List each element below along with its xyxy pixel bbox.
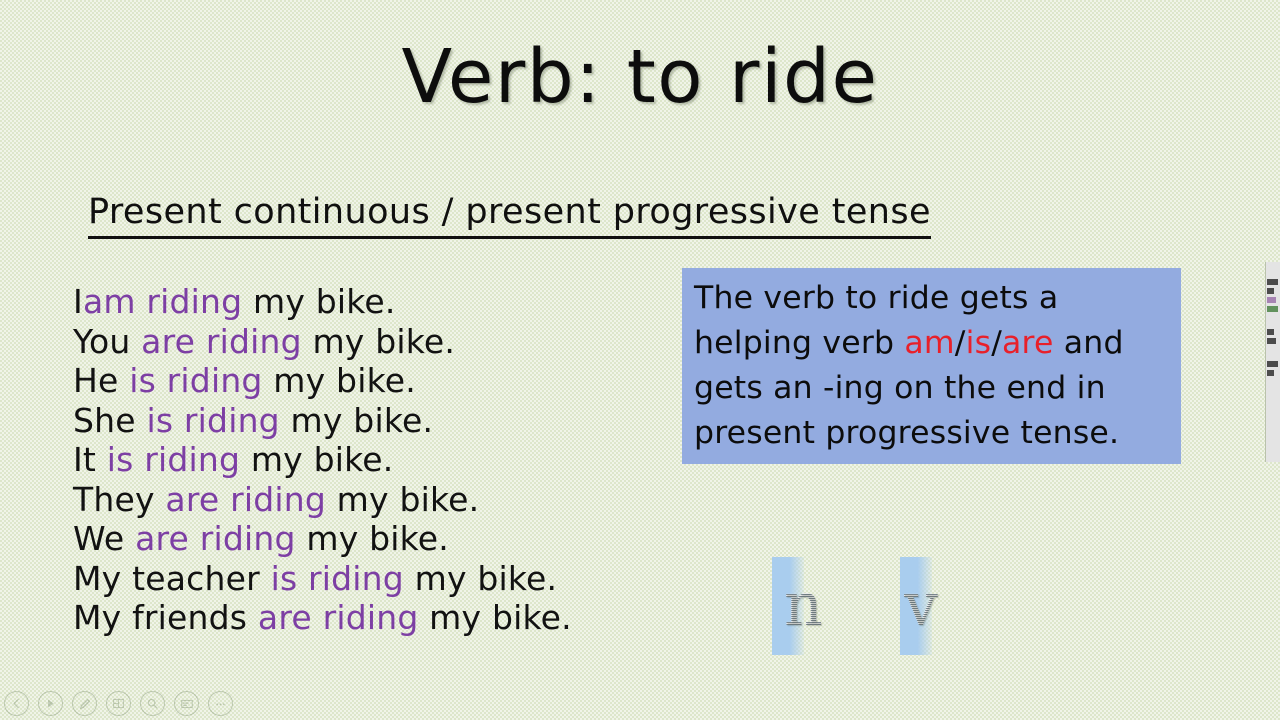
adjacent-slide-sliver[interactable]: [1265, 262, 1280, 462]
sliver-text-line: [1267, 306, 1278, 312]
sentence-subject: My friends: [73, 598, 258, 637]
list-item: He is riding my bike.: [73, 361, 673, 401]
sentence-subject: I: [73, 282, 83, 321]
slash-separator: /: [955, 325, 966, 361]
sentence-helping-verb: are riding: [141, 322, 302, 361]
sliver-text-line: [1267, 329, 1274, 335]
list-item: We are riding my bike.: [73, 519, 673, 559]
callout-line: present progressive tense.: [694, 411, 1169, 456]
more-icon[interactable]: [208, 691, 233, 716]
callout-line: gets an -ing on the end in: [694, 366, 1169, 411]
search-icon[interactable]: [140, 691, 165, 716]
sentence-object: my bike.: [326, 480, 479, 519]
presentation-icon[interactable]: [174, 691, 199, 716]
sentence-helping-verb: are riding: [258, 598, 419, 637]
sliver-text-line: [1267, 288, 1274, 294]
sentence-subject: My teacher: [73, 559, 271, 598]
sentence-object: my bike.: [280, 401, 433, 440]
sentence-subject: It: [73, 440, 107, 479]
list-item: Iam riding my bike.: [73, 282, 673, 322]
sentence-object: my bike.: [240, 440, 393, 479]
metallic-letter-n: n: [784, 575, 823, 635]
highlight-is: is: [966, 325, 992, 361]
sliver-text-line: [1267, 338, 1276, 344]
sentence-object: my bike.: [404, 559, 557, 598]
sliver-text-line: [1267, 361, 1278, 367]
slide-layout-icon[interactable]: [106, 691, 131, 716]
decorative-letter-tiles: n v: [772, 557, 932, 655]
callout-text: and: [1054, 325, 1124, 361]
presentation-toolbar[interactable]: [4, 691, 233, 716]
pen-icon[interactable]: [72, 691, 97, 716]
sentence-object: my bike.: [296, 519, 449, 558]
sentence-helping-verb: are riding: [165, 480, 326, 519]
callout-line: The verb to ride gets a: [694, 276, 1169, 321]
sentence-subject: You: [73, 322, 141, 361]
sentence-list: Iam riding my bike. You are riding my bi…: [73, 282, 673, 638]
sentence-helping-verb: is riding: [129, 361, 262, 400]
highlight-are: are: [1002, 325, 1054, 361]
callout-text: helping verb: [694, 325, 904, 361]
sliver-text-line: [1267, 297, 1276, 303]
play-icon[interactable]: [38, 691, 63, 716]
sentence-object: my bike.: [302, 322, 455, 361]
sentence-object: my bike.: [418, 598, 571, 637]
presentation-slide: Verb: to ride Present continuous / prese…: [0, 0, 1280, 720]
sentence-subject: He: [73, 361, 129, 400]
sentence-object: my bike.: [263, 361, 416, 400]
list-item: They are riding my bike.: [73, 480, 673, 520]
sentence-object: my bike.: [242, 282, 395, 321]
sentence-helping-verb: are riding: [135, 519, 296, 558]
sliver-text-line: [1267, 370, 1274, 376]
list-item: You are riding my bike.: [73, 322, 673, 362]
highlight-am: am: [904, 325, 954, 361]
metallic-letter-v: v: [904, 575, 938, 635]
list-item: My teacher is riding my bike.: [73, 559, 673, 599]
previous-icon[interactable]: [4, 691, 29, 716]
list-item: She is riding my bike.: [73, 401, 673, 441]
sentence-helping-verb: am riding: [83, 282, 242, 321]
list-item: My friends are riding my bike.: [73, 598, 673, 638]
sentence-subject: They: [73, 480, 165, 519]
sentence-subject: She: [73, 401, 146, 440]
slash-separator: /: [991, 325, 1002, 361]
callout-line: helping verb am/is/are and: [694, 321, 1169, 366]
explanation-callout: The verb to ride gets a helping verb am/…: [682, 268, 1181, 464]
sliver-text-line: [1267, 279, 1278, 285]
slide-subtitle: Present continuous / present progressive…: [88, 192, 931, 239]
sentence-helping-verb: is riding: [271, 559, 404, 598]
sentence-helping-verb: is riding: [146, 401, 279, 440]
sentence-helping-verb: is riding: [107, 440, 240, 479]
list-item: It is riding my bike.: [73, 440, 673, 480]
page-title: Verb: to ride: [0, 34, 1280, 120]
sentence-subject: We: [73, 519, 135, 558]
